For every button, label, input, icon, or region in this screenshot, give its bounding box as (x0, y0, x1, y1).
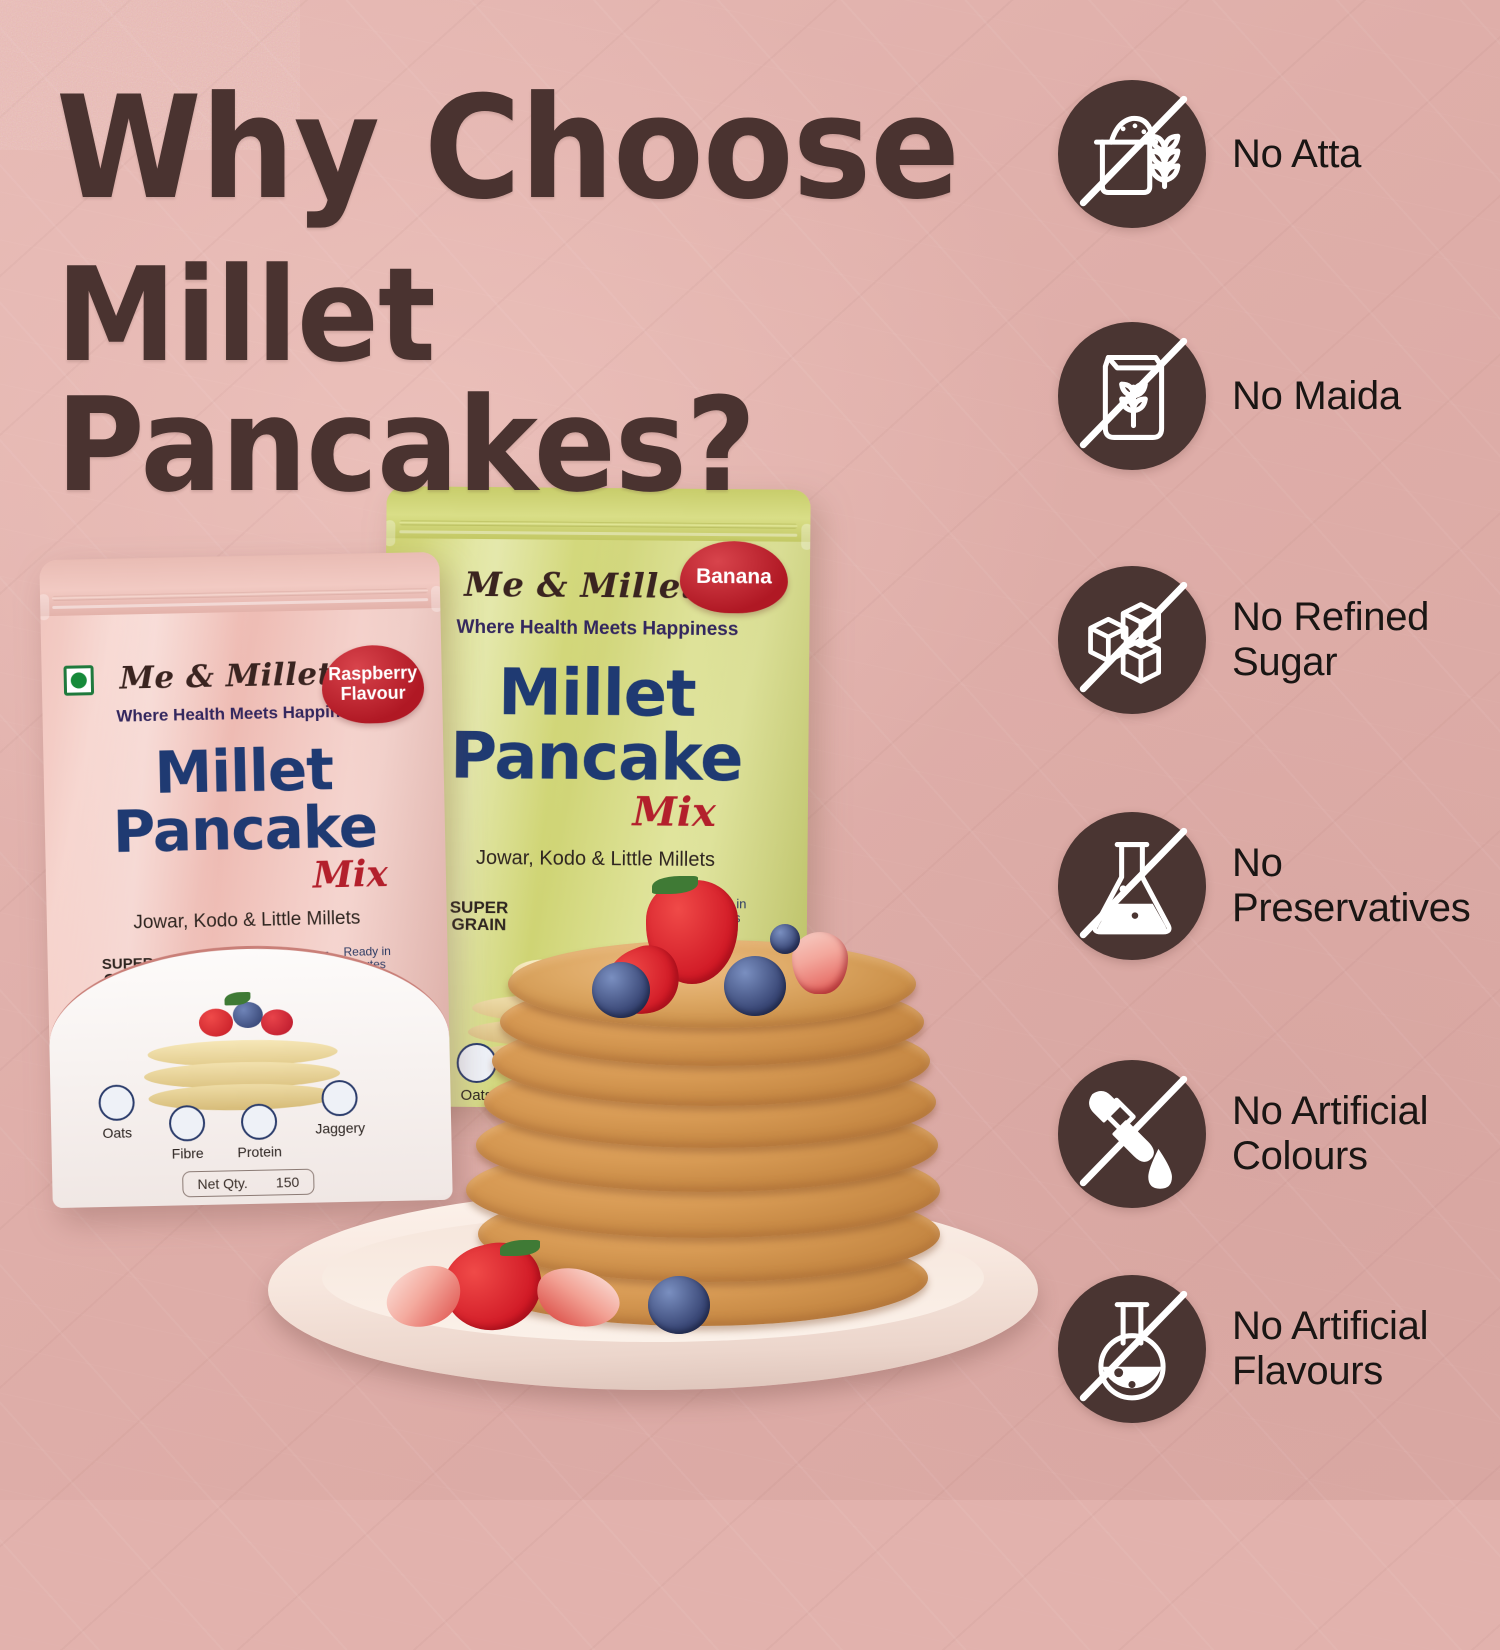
pouch-notch-left (384, 520, 395, 546)
feature-label: No Artificial Colours (1232, 1089, 1500, 1179)
pouch-notch-left (39, 594, 49, 620)
product-pouch-raspberry[interactable]: Me & Millets® Where Health Meets Happine… (39, 552, 452, 1208)
product-title-script-banana: Mix (632, 788, 716, 836)
blueberry (724, 956, 786, 1016)
no-atta-icon (1058, 80, 1206, 228)
benefit-jaggery-raspberry: Jaggery (298, 1079, 381, 1137)
pouch-seal-raspberry (39, 552, 440, 616)
feature-no-maida[interactable]: No Maida (1058, 322, 1401, 470)
no-artificial-flavours-icon (1058, 1275, 1206, 1423)
no-artificial-colours-icon (1058, 1060, 1206, 1208)
brand-tagline-banana: Where Health Meets Happiness (385, 616, 809, 642)
benefit-oats-raspberry: Oats (78, 1084, 155, 1142)
net-qty-label: Net Qty. (197, 1175, 248, 1192)
feature-no-preservatives[interactable]: No Preservatives (1058, 812, 1500, 960)
net-qty-value: 150 (276, 1174, 300, 1190)
feature-no-artificial-flavours[interactable]: No Artificial Flavours (1058, 1275, 1500, 1423)
benefit-label-oats: Oats (102, 1124, 132, 1141)
feature-label: No Preservatives (1232, 841, 1500, 931)
benefit-label-fibre: Fibre (172, 1145, 204, 1162)
benefit-icon-fibre (169, 1105, 206, 1142)
heading-line-1: Why Choose (56, 78, 995, 220)
page-title: Why Choose Millet Pancakes? (56, 78, 1066, 510)
product-title-line1-banana: Millet (385, 662, 810, 727)
no-refined-sugar-icon (1058, 566, 1206, 714)
benefit-label-jaggery: Jaggery (315, 1120, 365, 1137)
blueberry (648, 1276, 710, 1334)
benefit-fibre-raspberry: Fibre (149, 1104, 226, 1162)
feature-no-artificial-colours[interactable]: No Artificial Colours (1058, 1060, 1500, 1208)
product-grains-banana: Jowar, Kodo & Little Millets (383, 846, 807, 873)
benefit-icon-protein (241, 1103, 278, 1140)
feature-label: No Artificial Flavours (1232, 1304, 1500, 1394)
benefit-icon-oats (457, 1043, 497, 1083)
feature-label: No Atta (1232, 132, 1361, 177)
product-title-script-raspberry: Mix (312, 853, 388, 897)
feature-label: No Maida (1232, 374, 1401, 419)
benefit-protein-raspberry: Protein (219, 1103, 300, 1161)
feature-no-refined-sugar[interactable]: No Refined Sugar (1058, 566, 1500, 714)
benefit-label-protein: Protein (237, 1143, 282, 1160)
strawberry-slice (792, 932, 848, 994)
feature-label: No Refined Sugar (1232, 595, 1500, 685)
no-preservatives-icon (1058, 812, 1206, 960)
flavour-line2: Flavour (340, 684, 405, 705)
pouch-notch-right (801, 524, 811, 550)
blueberry (592, 962, 650, 1018)
feature-no-atta[interactable]: No Atta (1058, 80, 1361, 228)
benefit-icon-jaggery (321, 1080, 358, 1117)
heading-line-2: Millet Pancakes? (56, 250, 995, 510)
no-maida-icon (1058, 322, 1206, 470)
benefit-icon-oats (98, 1084, 135, 1121)
blueberry (770, 924, 800, 954)
product-title-line2-banana: Pancake (384, 726, 809, 791)
pouch-body-raspberry: Me & Millets® Where Health Meets Happine… (39, 552, 452, 1208)
